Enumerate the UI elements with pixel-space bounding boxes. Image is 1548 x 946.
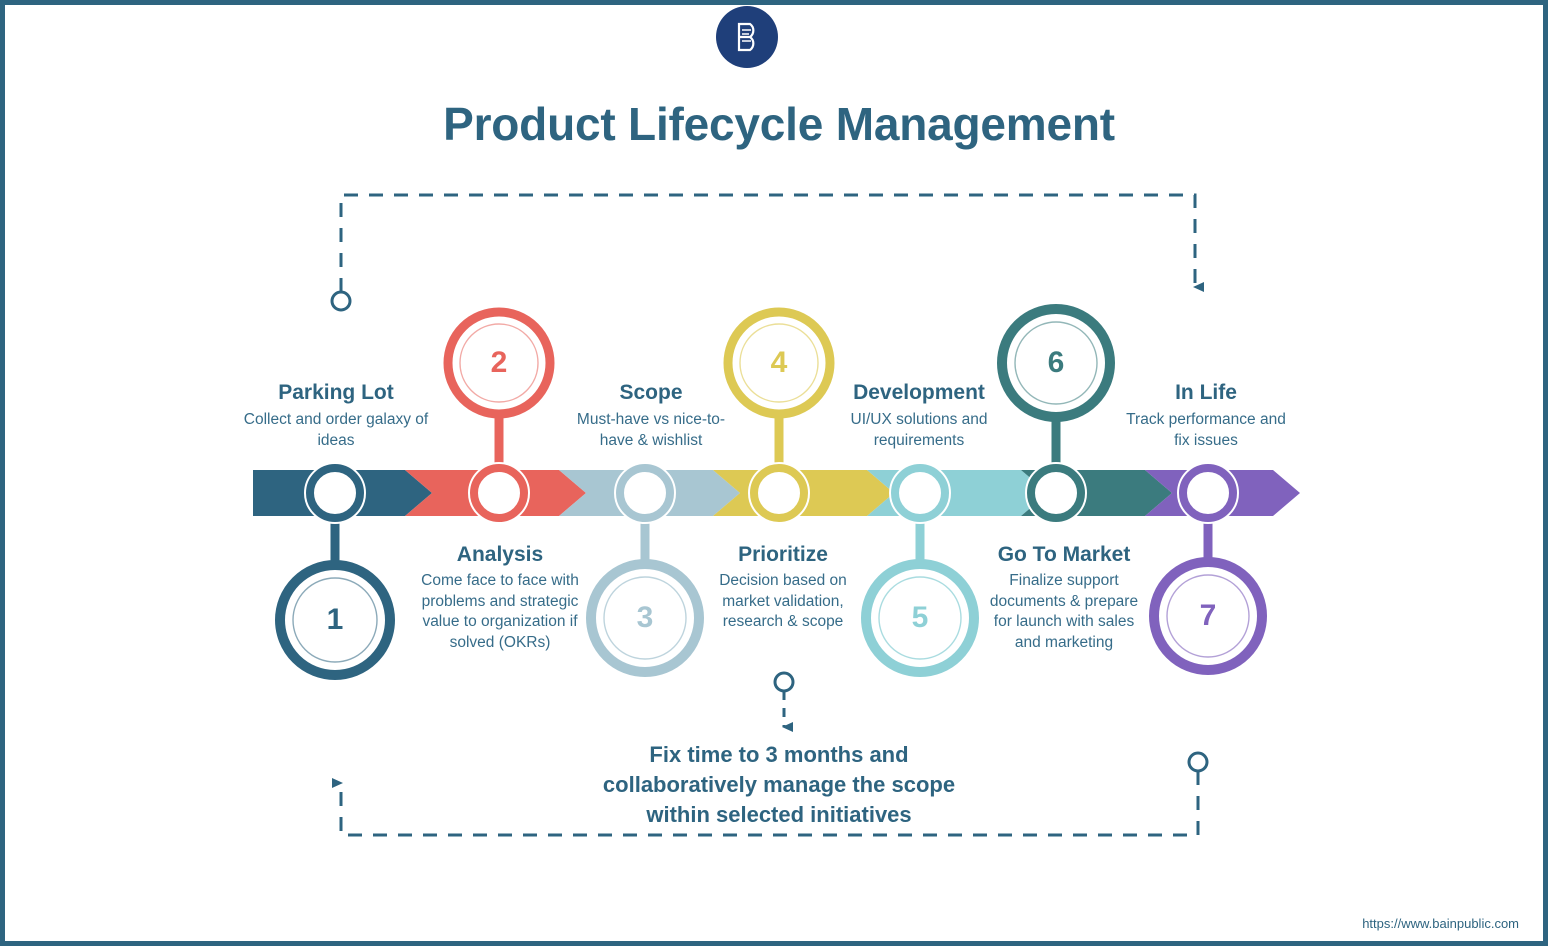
step-label-5: Development UI/UX solutions and requirem… (824, 380, 1014, 451)
step-title-6: Go To Market (979, 542, 1149, 567)
step-number-6: 6 (1006, 313, 1106, 413)
step-title-1: Parking Lot (240, 380, 432, 405)
step-desc-4: Decision based on market validation, res… (705, 571, 861, 633)
step-desc-6: Finalize support documents & prepare for… (979, 571, 1149, 653)
step-title-3: Scope (561, 380, 741, 405)
step-label-4: Prioritize Decision based on market vali… (705, 542, 861, 633)
callout-line-3: within selected initiatives (529, 800, 1029, 830)
infographic-canvas: Product Lifecycle Management (0, 0, 1548, 946)
step-desc-3: Must-have vs nice-to-have & wishlist (561, 410, 741, 451)
loop-top-origin-dot (332, 292, 350, 310)
callout-line-2: collaboratively manage the scope (529, 770, 1029, 800)
step-title-4: Prioritize (705, 542, 861, 567)
callout-line-1: Fix time to 3 months and (529, 740, 1029, 770)
step-desc-7: Track performance and fix issues (1118, 410, 1294, 451)
step-title-5: Development (824, 380, 1014, 405)
step-number-5: 5 (870, 568, 970, 668)
step-label-1: Parking Lot Collect and order galaxy of … (240, 380, 432, 451)
knob-3 (620, 468, 670, 518)
step-label-7: In Life Track performance and fix issues (1118, 380, 1294, 451)
knob-1 (310, 468, 360, 518)
knob-4 (754, 468, 804, 518)
knob-2 (474, 468, 524, 518)
loop-top-path (341, 195, 1195, 292)
callout-note: Fix time to 3 months and collaboratively… (529, 740, 1029, 830)
step-label-3: Scope Must-have vs nice-to-have & wishli… (561, 380, 741, 451)
knob-7 (1183, 468, 1233, 518)
step-desc-1: Collect and order galaxy of ideas (240, 410, 432, 451)
callout-origin-dot (775, 673, 793, 691)
loop-bottom-origin-dot (1189, 753, 1207, 771)
bain-public-logo (716, 6, 778, 68)
feedback-loop-top (332, 195, 1195, 310)
step-number-7: 7 (1158, 566, 1258, 666)
source-url[interactable]: https://www.bainpublic.com (1362, 916, 1519, 931)
step-number-2: 2 (449, 313, 549, 413)
step-number-1: 1 (285, 570, 385, 670)
step-title-2: Analysis (410, 542, 590, 567)
step-label-6: Go To Market Finalize support documents … (979, 542, 1149, 653)
step-number-4: 4 (729, 313, 829, 413)
step-desc-2: Come face to face with problems and stra… (410, 571, 590, 653)
knob-6 (1031, 468, 1081, 518)
step-label-2: Analysis Come face to face with problems… (410, 542, 590, 653)
callout-connector (775, 673, 793, 727)
step-desc-5: UI/UX solutions and requirements (824, 410, 1014, 451)
step-number-3: 3 (595, 568, 695, 668)
knob-5 (895, 468, 945, 518)
step-title-7: In Life (1118, 380, 1294, 405)
